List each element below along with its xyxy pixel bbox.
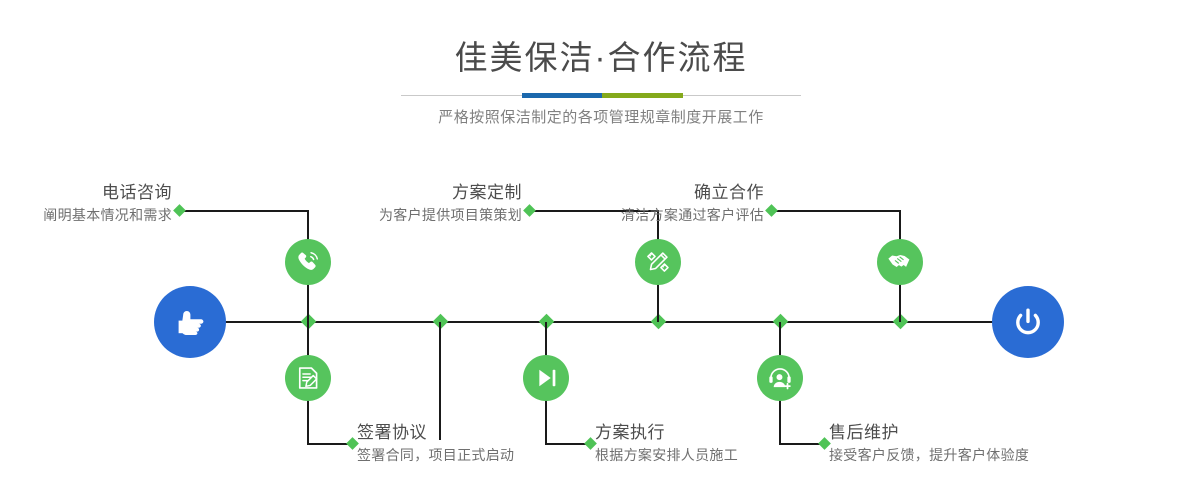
step-4-arm bbox=[545, 443, 589, 445]
power-icon bbox=[1008, 302, 1048, 342]
step-2-arm bbox=[307, 443, 351, 445]
sign-document-icon bbox=[294, 364, 322, 392]
step-6-icon-node[interactable] bbox=[757, 355, 803, 401]
pointing-hand-icon bbox=[170, 302, 210, 342]
page-subtitle: 严格按照保洁制定的各项管理规章制度开展工作 bbox=[0, 106, 1202, 130]
step-1-arm-diamond bbox=[173, 204, 186, 217]
step-5-desc: 清洁方案通过客户评估 bbox=[572, 204, 764, 226]
step-1-arm bbox=[179, 210, 309, 212]
phone-call-icon bbox=[293, 247, 323, 277]
step-6-arm bbox=[779, 443, 823, 445]
step-5-icon-node[interactable] bbox=[877, 239, 923, 285]
step-2-icon-node[interactable] bbox=[285, 355, 331, 401]
step-3-label: 方案定制 为客户提供项目策策划 bbox=[330, 182, 522, 226]
step-4-icon-node[interactable] bbox=[523, 355, 569, 401]
step-1-desc: 阐明基本情况和需求 bbox=[0, 204, 172, 226]
page-title: 佳美保洁·合作流程 bbox=[0, 36, 1202, 80]
step-3-title: 方案定制 bbox=[330, 182, 522, 204]
step-3-arm-diamond bbox=[523, 204, 536, 217]
step-2-desc: 签署合同，项目正式启动 bbox=[357, 444, 587, 466]
step-3-icon-node[interactable] bbox=[635, 239, 681, 285]
step-4-desc: 根据方案安排人员施工 bbox=[595, 444, 825, 466]
cooperation-flow-infographic: 佳美保洁·合作流程 严格按照保洁制定的各项管理规章制度开展工作 bbox=[0, 0, 1202, 502]
flow-end-node[interactable] bbox=[992, 286, 1064, 358]
step-4-title: 方案执行 bbox=[595, 422, 825, 444]
header: 佳美保洁·合作流程 严格按照保洁制定的各项管理规章制度开展工作 bbox=[0, 0, 1202, 150]
divider-segment-blue bbox=[522, 93, 602, 98]
step-2-title: 签署协议 bbox=[357, 422, 587, 444]
step-3-desc: 为客户提供项目策策划 bbox=[330, 204, 522, 226]
step-1-label: 电话咨询 阐明基本情况和需求 bbox=[0, 182, 172, 226]
divider-segment-green bbox=[602, 93, 683, 98]
step-1-icon-node[interactable] bbox=[285, 239, 331, 285]
title-divider bbox=[401, 93, 801, 98]
step-5-title: 确立合作 bbox=[572, 182, 764, 204]
pencil-design-icon bbox=[644, 248, 672, 276]
step-6-label: 售后维护 接受客户反馈，提升客户体验度 bbox=[829, 422, 1089, 466]
flow-start-node[interactable] bbox=[154, 286, 226, 358]
customer-service-icon bbox=[766, 364, 794, 392]
step-5-arm bbox=[771, 210, 901, 212]
step-5-arm-diamond bbox=[765, 204, 778, 217]
step-6-desc: 接受客户反馈，提升客户体验度 bbox=[829, 444, 1089, 466]
handshake-icon bbox=[885, 247, 915, 277]
step-6-title: 售后维护 bbox=[829, 422, 1089, 444]
step-1-title: 电话咨询 bbox=[0, 182, 172, 204]
play-execute-icon bbox=[532, 364, 560, 392]
step-5-label: 确立合作 清洁方案通过客户评估 bbox=[572, 182, 764, 226]
flow-diagram: 电话咨询 阐明基本情况和需求 bbox=[0, 150, 1202, 502]
